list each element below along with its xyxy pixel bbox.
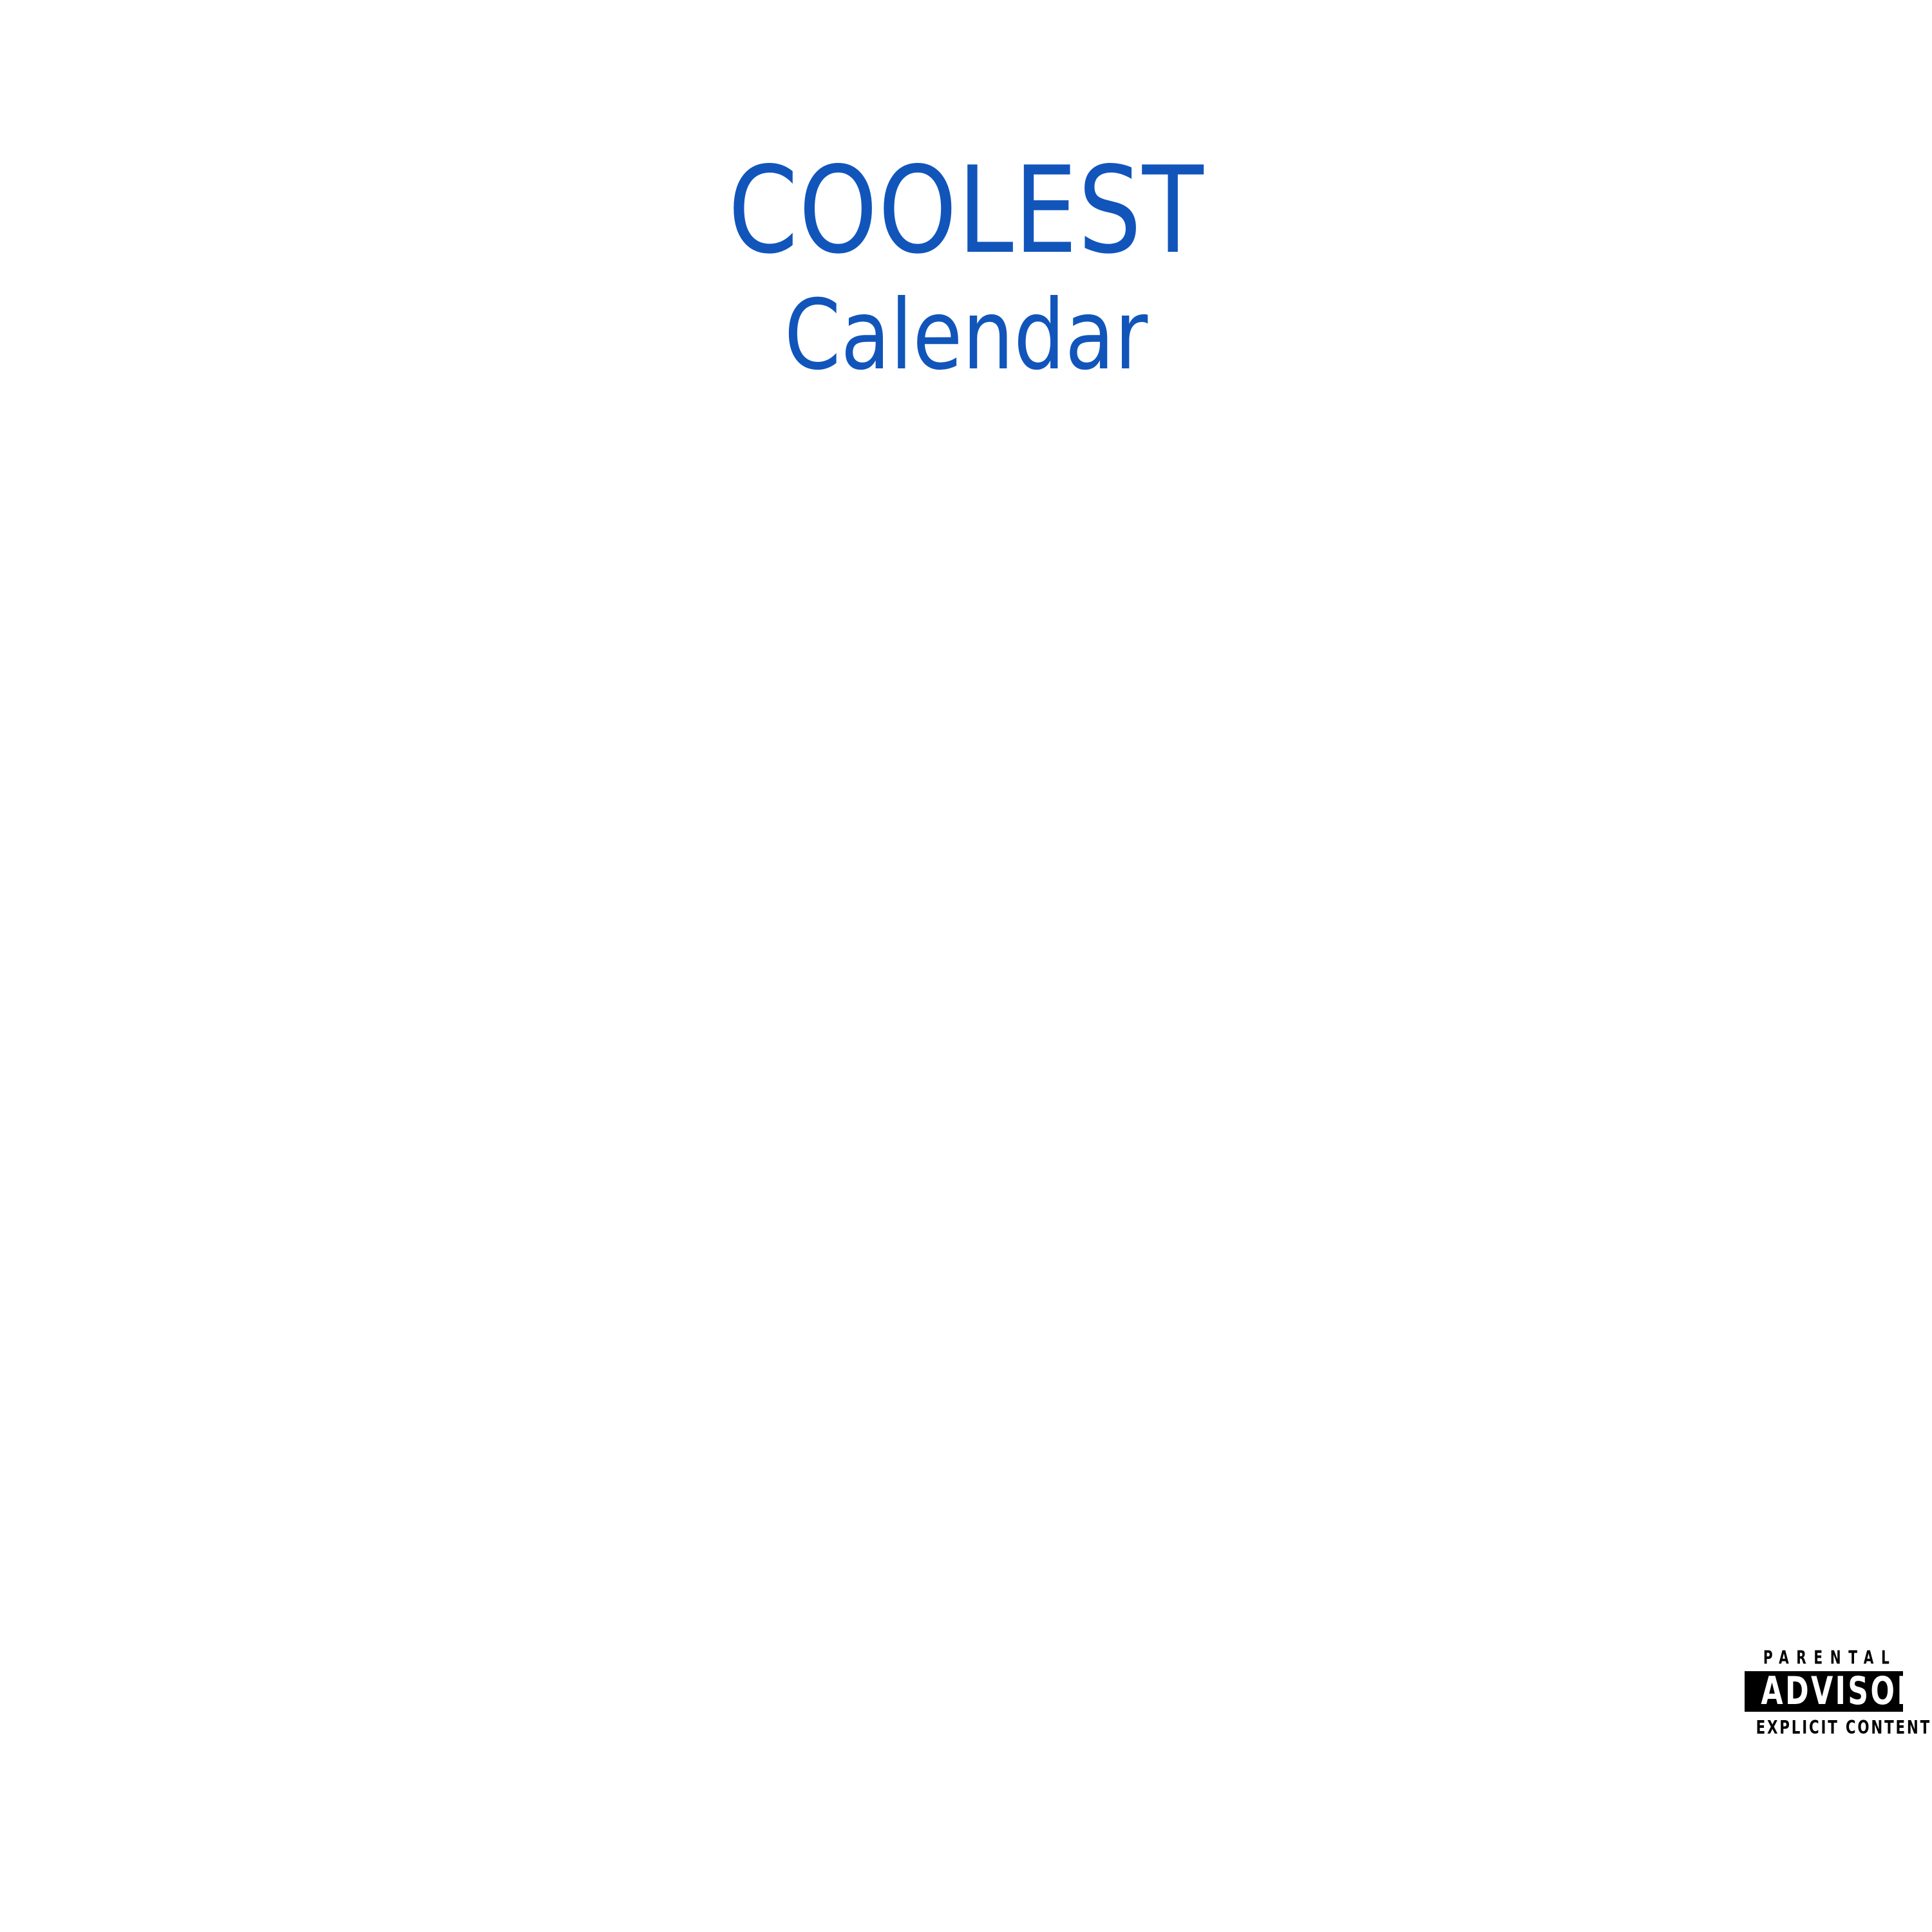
album-cover-canvas: COOLEST Calendar PARENTAL ADVISORY EXPLI…	[0, 0, 1932, 1932]
parental-advisory-icon: PARENTAL ADVISORY EXPLICIT CONTENT	[1745, 1649, 1903, 1738]
parental-advisory-bar: ADVISORY	[1745, 1671, 1903, 1712]
page-subtitle: Calendar	[68, 274, 1864, 397]
parental-advisory-top-text: PARENTAL	[1756, 1648, 1892, 1669]
parental-advisory-bottom-text: EXPLICIT CONTENT	[1754, 1718, 1893, 1739]
page-title: COOLEST	[68, 147, 1864, 274]
cover-title-block: COOLEST Calendar	[0, 147, 1932, 397]
parental-advisory-bar-text: ADVISORY	[1759, 1671, 1889, 1712]
